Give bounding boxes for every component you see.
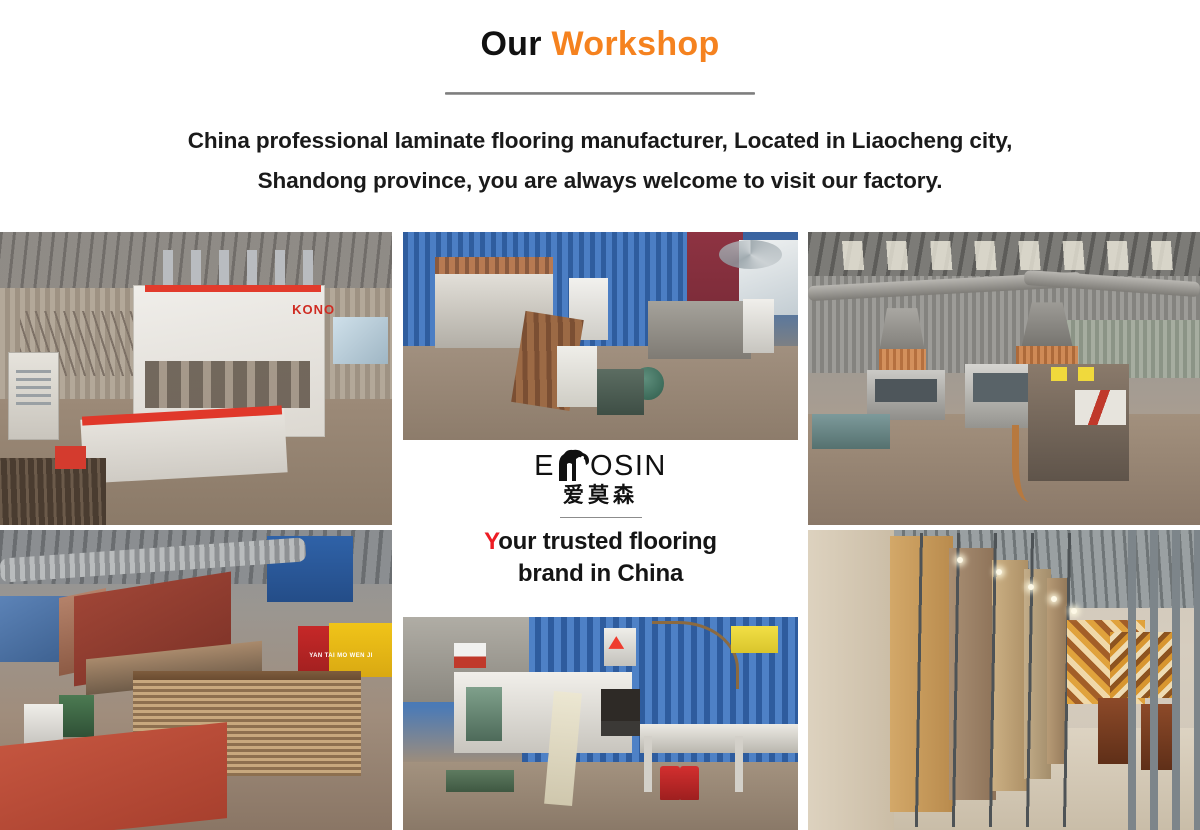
photo-dust-extraction[interactable] xyxy=(808,232,1200,525)
photo-hot-press[interactable]: KONO xyxy=(0,232,392,525)
tagline-line-2: brand in China xyxy=(518,560,683,587)
page-title-primary: Our xyxy=(480,25,551,63)
header: Our Workshop China professional laminate… xyxy=(0,0,1200,201)
machine-brand-label: KONO xyxy=(282,302,345,323)
title-divider xyxy=(445,92,755,95)
logo-divider xyxy=(560,517,642,518)
subtitle-line-1: China professional laminate flooring man… xyxy=(95,121,1105,161)
page-title-accent: Workshop xyxy=(552,25,720,63)
subtitle-line-2: Shandong province, you are always welcom… xyxy=(95,161,1105,201)
brand-letter-e: E xyxy=(534,452,555,481)
gorilla-icon xyxy=(556,448,590,481)
brand-wordmark: E OSIN xyxy=(534,451,667,481)
brand-logo-card: E OSIN 爱莫森 Your trusted flooringbrand in… xyxy=(403,440,798,615)
workshop-banner: Our Workshop China professional laminate… xyxy=(0,0,1200,830)
factory-banner-label: YAN TAI MO WEN JI xyxy=(290,653,392,668)
photo-production-line[interactable] xyxy=(403,232,798,440)
brand-chinese-name: 爱莫森 xyxy=(563,484,638,508)
tagline-line-1: our trusted flooring xyxy=(498,528,717,555)
tagline-initial: Y xyxy=(484,528,498,555)
photo-showroom[interactable] xyxy=(808,530,1200,830)
brand-tagline: Your trusted flooringbrand in China xyxy=(431,526,771,590)
brand-letters-osin: OSIN xyxy=(590,452,667,481)
page-title: Our Workshop xyxy=(0,22,1200,66)
photo-board-stacker[interactable]: YAN TAI MO WEN JI xyxy=(0,530,392,830)
photo-edge-machine[interactable] xyxy=(403,617,798,830)
